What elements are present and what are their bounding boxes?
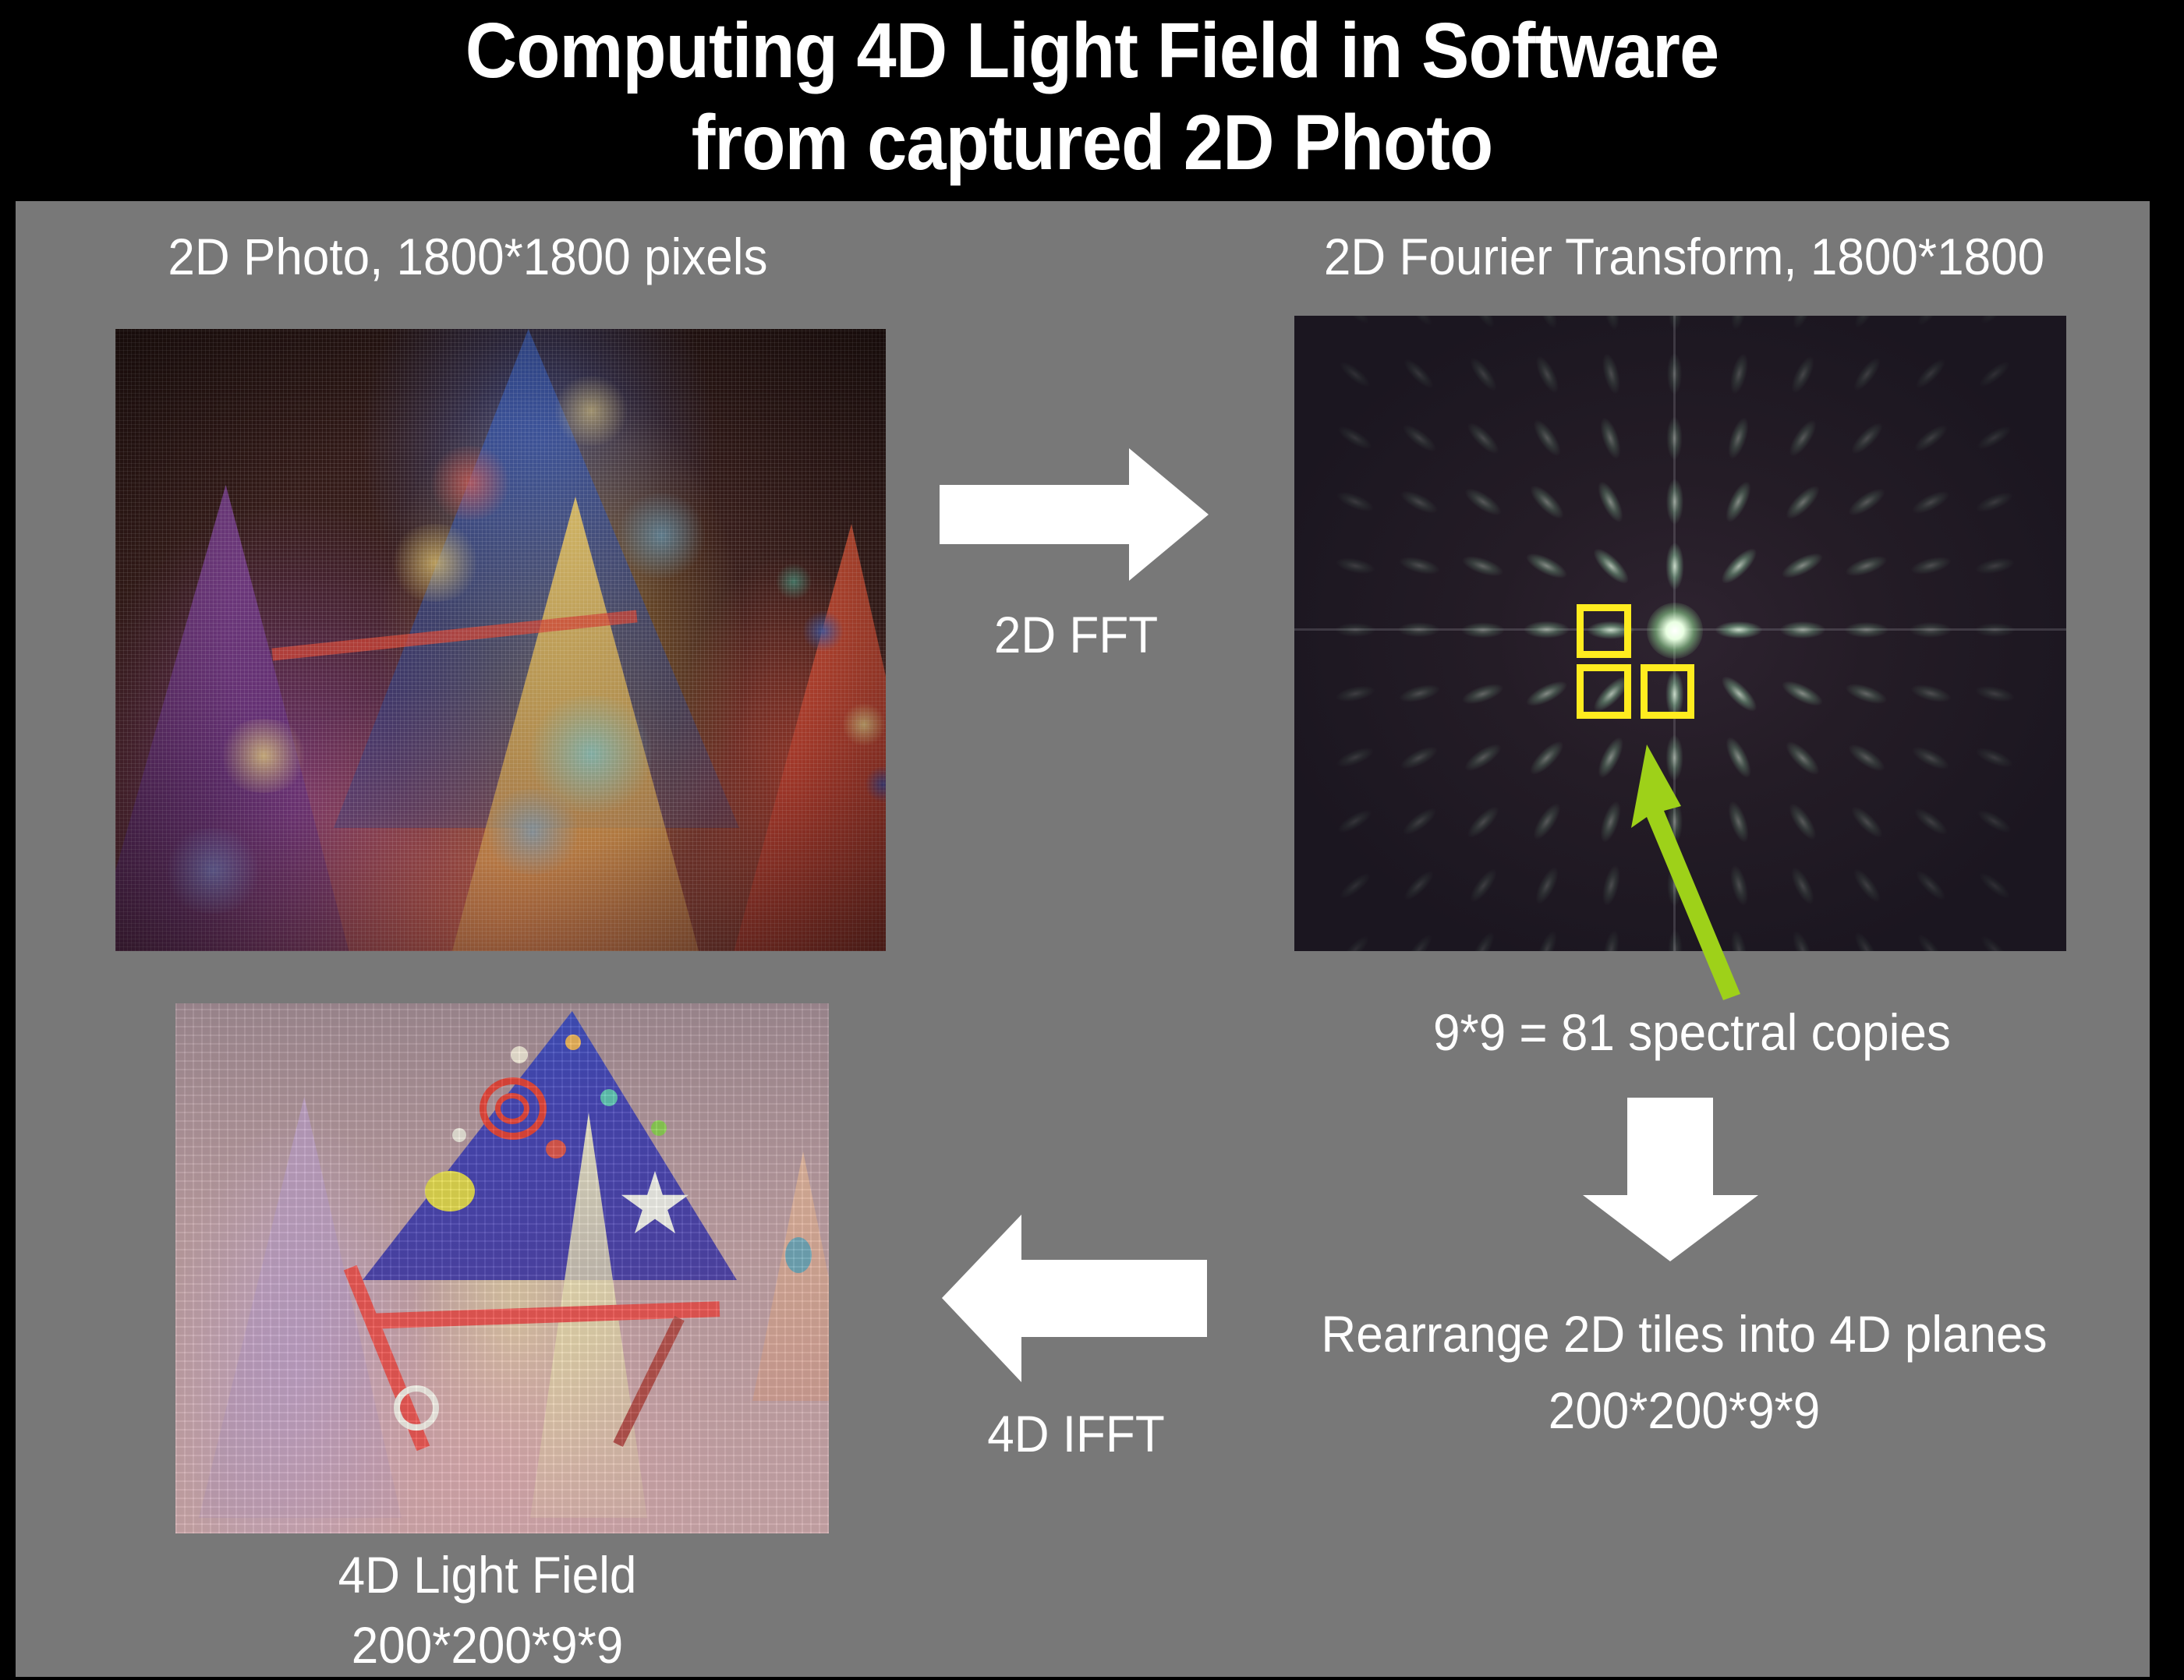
fft-spectral-copy bbox=[1975, 806, 2015, 837]
fft-spectral-copy bbox=[1399, 421, 1439, 456]
fft-spectral-copy bbox=[1725, 416, 1754, 462]
fft-spectral-copy bbox=[1336, 423, 1375, 454]
fft-spectral-copy bbox=[1845, 484, 1888, 520]
fft-spectral-copy bbox=[1461, 622, 1504, 638]
fft-spectral-copy bbox=[1400, 867, 1437, 904]
rearrange-label-line-2: 200*200*9*9 bbox=[1549, 1381, 1820, 1439]
fft-spectral-copy bbox=[1722, 479, 1757, 526]
fft-spectral-copy bbox=[1973, 745, 2015, 772]
fft-spectral-copy bbox=[1849, 354, 1885, 394]
fft-spectral-copy bbox=[1400, 355, 1437, 392]
fft-spectral-copy bbox=[1973, 683, 2015, 704]
fft-spectral-copy bbox=[1529, 416, 1565, 460]
fft-spectral-copy bbox=[1851, 930, 1882, 951]
ifft-arrow-icon bbox=[942, 1215, 1207, 1382]
tile-grid-overlay bbox=[175, 1003, 829, 1533]
fft-spectral-copy bbox=[1403, 931, 1436, 951]
fft-spectral-copy bbox=[1847, 802, 1887, 842]
fft-spectral-copy bbox=[1779, 549, 1827, 584]
fft-spectral-copy bbox=[1780, 621, 1825, 638]
fft-spectral-copy bbox=[1845, 740, 1888, 776]
page-title: Computing 4D Light Field in Softwarefrom… bbox=[87, 5, 2097, 189]
spectral-copy-box-2 bbox=[1577, 664, 1631, 719]
fft-forward-arrow-label: 2D FFT bbox=[915, 604, 1237, 665]
fft-spectral-copy bbox=[1849, 865, 1885, 906]
fft-spectral-copy bbox=[1526, 481, 1568, 523]
fft-spectral-copy bbox=[1467, 316, 1499, 330]
fft-spectral-copy bbox=[1975, 423, 2015, 454]
fft-spectral-copy bbox=[1336, 358, 1374, 391]
fft-spectral-copy bbox=[1666, 543, 1684, 589]
fft-spectral-copy bbox=[1464, 419, 1503, 458]
fft-spectral-copy bbox=[1914, 931, 1948, 951]
fft-spectral-copy bbox=[1973, 489, 2015, 516]
light-field-4d-image bbox=[175, 1003, 829, 1533]
fft-spectral-copy bbox=[1728, 316, 1749, 331]
photo-2d-image bbox=[115, 329, 886, 951]
fft-spectral-copy bbox=[1716, 671, 1761, 716]
fft-spectral-copy bbox=[1976, 358, 2013, 391]
spectral-copies-pointer-arrow bbox=[1606, 725, 1809, 1037]
fft-spectral-copy bbox=[1461, 484, 1505, 520]
fft-spectral-copy bbox=[1526, 737, 1568, 779]
rearrange-down-arrow-icon bbox=[1583, 1098, 1758, 1261]
fft-spectral-copy bbox=[1975, 623, 2015, 637]
fft-spectral-copy bbox=[1667, 416, 1683, 459]
fft-spectral-copy bbox=[1338, 316, 1372, 327]
title-line-2: from captured 2D Photo bbox=[692, 99, 1493, 186]
fft-spectral-copy bbox=[1334, 683, 1375, 704]
fft-spectral-copy bbox=[1782, 481, 1824, 523]
fft-spectral-copy bbox=[1910, 805, 1951, 840]
fft-spectral-copy bbox=[1594, 479, 1629, 526]
rearrange-label-line-1: Rearrange 2D tiles into 4D planes bbox=[1321, 1305, 2047, 1363]
fft-spectral-copy bbox=[1597, 416, 1626, 462]
fft-spectral-copy bbox=[1789, 316, 1817, 331]
fft-spectral-copy bbox=[1466, 865, 1501, 906]
spectral-copies-annotation: 9*9 = 81 spectral copies bbox=[1274, 1002, 2110, 1063]
fft-spectral-copy bbox=[1909, 486, 1952, 518]
fft-spectral-copy bbox=[1667, 353, 1682, 394]
fft-spectral-copy bbox=[1531, 864, 1563, 907]
fft-spectral-copy bbox=[1914, 316, 1948, 329]
fft-spectral-copy bbox=[1912, 355, 1949, 392]
fft-spectral-copy bbox=[1529, 800, 1565, 844]
fft-spectral-copy bbox=[1598, 352, 1623, 396]
fft-spectral-copy bbox=[1668, 316, 1682, 331]
fft-spectral-copy bbox=[1716, 543, 1761, 588]
fft-spectral-copy bbox=[1534, 316, 1561, 331]
fft-spectral-copy bbox=[1844, 552, 1890, 581]
light-field-caption-line-2: 200*200*9*9 bbox=[352, 1616, 623, 1674]
ifft-arrow-label: 4D IFFT bbox=[908, 1403, 1244, 1464]
rearrange-label: Rearrange 2D tiles into 4D planes200*200… bbox=[1230, 1296, 2139, 1448]
fft-spectral-copy bbox=[1398, 622, 1439, 637]
fft-spectral-copy bbox=[1334, 745, 1375, 772]
vignette-overlay bbox=[115, 329, 886, 951]
fft-spectral-copy bbox=[1910, 421, 1951, 456]
photo-2d-caption: 2D Photo, 1800*1800 pixels bbox=[72, 226, 863, 287]
fft-spectral-copy bbox=[1399, 805, 1439, 840]
fft-spectral-copy bbox=[1845, 622, 1888, 638]
fft-spectral-copy bbox=[1460, 680, 1506, 709]
fft-center-peak bbox=[1647, 603, 1703, 659]
fft-spectral-copy bbox=[1467, 930, 1499, 951]
fft-spectral-copy bbox=[1397, 486, 1440, 518]
fft-spectral-copy bbox=[1534, 928, 1561, 951]
light-field-caption-line-1: 4D Light Field bbox=[338, 1546, 637, 1604]
fft-spectral-copy bbox=[1976, 869, 2013, 903]
fft-spectral-copy bbox=[1336, 869, 1374, 903]
fft-spectral-copy bbox=[1912, 867, 1949, 904]
fft-spectral-copy bbox=[1785, 416, 1821, 460]
fft-forward-arrow-icon bbox=[940, 444, 1209, 585]
fft-spectral-copy bbox=[1909, 742, 1952, 773]
fourier-2d-caption: 2D Fourier Transform, 1800*1800 bbox=[1251, 226, 2116, 287]
fft-spectral-copy bbox=[1779, 677, 1827, 712]
spectral-copy-box-3 bbox=[1641, 664, 1694, 719]
fft-spectral-copy bbox=[1464, 802, 1503, 842]
fft-spectral-copy bbox=[1588, 543, 1633, 588]
fft-spectral-copy bbox=[1466, 354, 1501, 394]
light-field-4d-caption: 4D Light Field200*200*9*9 bbox=[168, 1540, 806, 1680]
fft-spectral-copy bbox=[1600, 316, 1621, 331]
fft-spectral-copy bbox=[1334, 555, 1375, 576]
fft-spectral-copy bbox=[1844, 680, 1890, 709]
fft-spectral-copy bbox=[1977, 316, 2012, 327]
fft-spectral-copy bbox=[1531, 352, 1563, 395]
fft-spectral-copy bbox=[1397, 681, 1441, 706]
fft-spectral-copy bbox=[1851, 316, 1882, 330]
fft-spectral-copy bbox=[1524, 549, 1571, 584]
fft-spectral-copy bbox=[1461, 740, 1505, 776]
fft-spectral-copy bbox=[1397, 554, 1441, 578]
fft-spectral-copy bbox=[1524, 621, 1570, 638]
fft-spectral-copy bbox=[1524, 677, 1571, 712]
fft-spectral-copy bbox=[1715, 621, 1762, 639]
fft-spectral-copy bbox=[1403, 316, 1436, 329]
fft-spectral-copy bbox=[1666, 479, 1683, 525]
fft-spectral-copy bbox=[1460, 552, 1506, 581]
fft-spectral-copy bbox=[1397, 742, 1440, 773]
fft-spectral-copy bbox=[1336, 806, 1375, 837]
fft-spectral-copy bbox=[1336, 623, 1375, 637]
fft-spectral-copy bbox=[1977, 932, 2012, 951]
fft-spectral-copy bbox=[1973, 555, 2015, 576]
fft-spectral-copy bbox=[1338, 932, 1372, 951]
fft-spectral-copy bbox=[1726, 352, 1750, 396]
fft-spectral-copy bbox=[1334, 489, 1375, 516]
fft-spectral-copy bbox=[1909, 554, 1952, 578]
fft-spectral-copy bbox=[1909, 681, 1952, 706]
fft-spectral-copy bbox=[1847, 419, 1887, 458]
fft-spectral-copy bbox=[1787, 352, 1818, 395]
title-line-1: Computing 4D Light Field in Software bbox=[465, 7, 1719, 94]
fft-spectral-copy bbox=[1910, 622, 1951, 637]
spectral-copy-box-1 bbox=[1577, 604, 1631, 658]
